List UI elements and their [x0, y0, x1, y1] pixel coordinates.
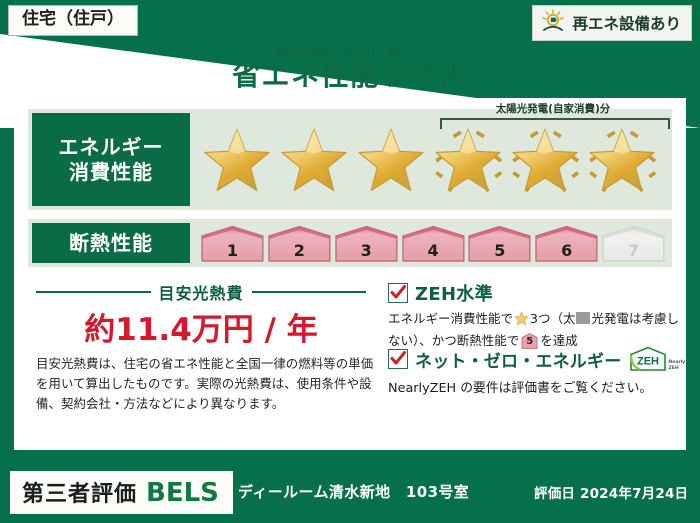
utility-cost-title: 目安光熱費: [159, 280, 244, 304]
energy-label-line1: エネルギー: [59, 135, 164, 159]
insulation-level-scale: 1 2 3 4 5 6 7: [200, 223, 666, 263]
insulation-performance-label: 断熱性能: [32, 223, 190, 263]
bels-certification-box: 第三者評価 BELS: [10, 471, 233, 514]
building-type-tag: 住宅（住戸）: [8, 5, 138, 36]
star-solar: [431, 125, 505, 197]
net-zero-description: NearlyZEH の要件は評価書をご覧ください。: [388, 377, 688, 396]
property-name: ディールーム清水新地 103号室: [238, 481, 469, 502]
net-zero-block: ネット・ゼロ・エネルギー ZEH Nearly ZEH NearlyZEH の要…: [388, 346, 688, 396]
insulation-level-active: 5: [467, 225, 532, 263]
renewable-energy-badge: 再エネ設備あり: [532, 5, 692, 41]
insulation-level-active: 4: [401, 225, 466, 263]
heading-rule-right: [252, 291, 367, 293]
insulation-level-number: 4: [401, 241, 466, 260]
inline-star-icon: [514, 311, 529, 331]
zeh-desc-stars: 3つ（太: [530, 311, 575, 326]
building-type-label: 住宅（住戸）: [22, 9, 124, 29]
sun-icon: [540, 9, 566, 37]
solar-bracket: [440, 118, 670, 129]
insulation-level-active: 6: [534, 225, 599, 263]
net-zero-row: ネット・ゼロ・エネルギー ZEH Nearly ZEH: [388, 346, 688, 372]
insulation-level-number: 2: [267, 241, 332, 260]
renewable-energy-label: 再エネ設備あり: [572, 12, 681, 34]
footer-bar: 第三者評価 BELS ディールーム清水新地 103号室 評価日 2024年7月2…: [0, 461, 700, 523]
solar-annotation: 太陽光発電(自家消費)分: [434, 104, 672, 126]
insulation-level-number: 6: [534, 241, 599, 260]
star-filled: [354, 125, 428, 197]
star-solar: [585, 125, 659, 197]
heading-rule-left: [36, 291, 151, 293]
svg-text:ZEH: ZEH: [637, 356, 659, 368]
solar-caption: 太陽光発電(自家消費)分: [434, 104, 672, 115]
star-solar: [508, 125, 582, 197]
insulation-level-number: 1: [200, 241, 265, 260]
insulation-level-number: 7: [601, 241, 666, 260]
label-card: エネルギー 消費性能 太陽光発電(自家消費)分: [14, 98, 686, 450]
star-filled: [200, 125, 274, 197]
insulation-level-inactive: 7: [601, 225, 666, 263]
insulation-label-text: 断熱性能: [69, 231, 153, 255]
insulation-level-active: 1: [200, 225, 265, 263]
page-subtitle: 建築物省エネ法に基づく: [0, 40, 700, 60]
utility-cost-value: 約11.4万円 / 年: [36, 304, 366, 349]
energy-performance-label: エネルギー 消費性能: [32, 113, 190, 206]
zeh-logo-icon: ZEH Nearly ZEH: [628, 346, 668, 372]
check-icon: [388, 349, 408, 369]
zeh-standard-row: ZEH水準: [388, 280, 680, 306]
redaction-block: [576, 312, 590, 324]
zeh-standard-description: エネルギー消費性能で3つ（太光発電は考慮しない）、かつ断熱性能で5を達成: [388, 309, 680, 351]
insulation-level-number: 3: [334, 241, 399, 260]
insulation-level-active: 2: [267, 225, 332, 263]
bels-energy-label: 住宅（住戸） 再エネ設備あり 建築物省エネ法に基づく 省エネ性能ラベル: [0, 0, 700, 523]
star-filled: [277, 125, 351, 197]
energy-star-rating: [200, 123, 666, 199]
net-zero-title: ネット・ゼロ・エネルギー: [415, 347, 621, 372]
zeh-desc-part-a: エネルギー消費性能で: [388, 311, 513, 326]
zeh-standard-block: ZEH水準 エネルギー消費性能で3つ（太光発電は考慮しない）、かつ断熱性能で5を…: [388, 280, 680, 351]
check-icon: [388, 283, 408, 303]
zeh-logo-subtext: Nearly ZEH: [668, 360, 682, 371]
zeh-logo-sub1: Nearly: [668, 360, 685, 365]
page-title: 建築物省エネ法に基づく 省エネ性能ラベル: [0, 40, 700, 92]
insulation-level-active: 3: [334, 225, 399, 263]
page-main-title: 省エネ性能ラベル: [0, 61, 700, 92]
evaluation-date: 評価日 2024年7月24日: [534, 482, 688, 502]
energy-label-line2: 消費性能: [59, 160, 164, 184]
bels-ja-label: 第三者評価: [22, 476, 137, 508]
bels-en-label: BELS: [146, 478, 219, 508]
utility-cost-note: 目安光熱費は、住宅の省エネ性能と全国一律の燃料等の単価を用いて算出したものです。…: [36, 354, 376, 414]
utility-cost-heading: 目安光熱費: [36, 280, 366, 304]
insulation-level-number: 5: [467, 241, 532, 260]
zeh-logo-sub2: ZEH: [668, 366, 678, 371]
zeh-standard-title: ZEH水準: [415, 280, 493, 306]
